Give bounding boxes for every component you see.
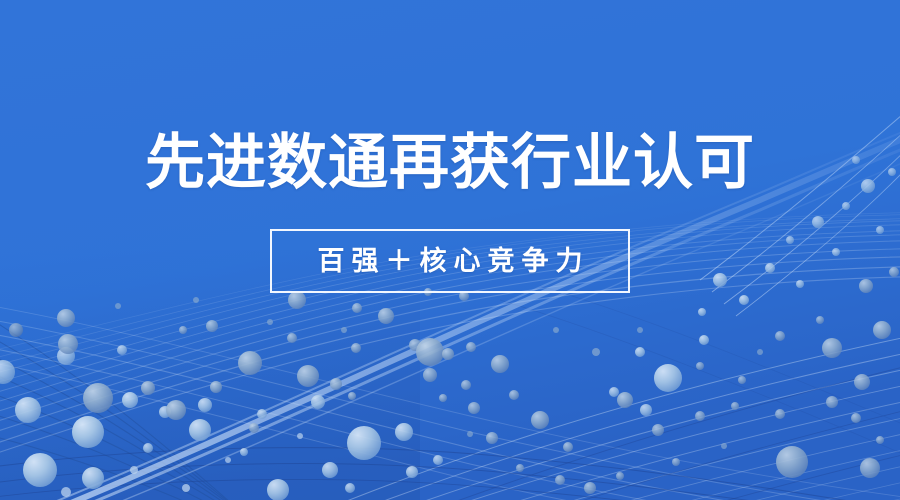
banner-content: 先进数通再获行业认可 百强＋核心竞争力 [0, 0, 900, 500]
promo-banner: 先进数通再获行业认可 百强＋核心竞争力 [0, 0, 900, 500]
page-title: 先进数通再获行业认可 [145, 133, 755, 193]
subtitle-badge: 百强＋核心竞争力 [270, 229, 630, 293]
subtitle-text: 百强＋核心竞争力 [311, 248, 590, 275]
